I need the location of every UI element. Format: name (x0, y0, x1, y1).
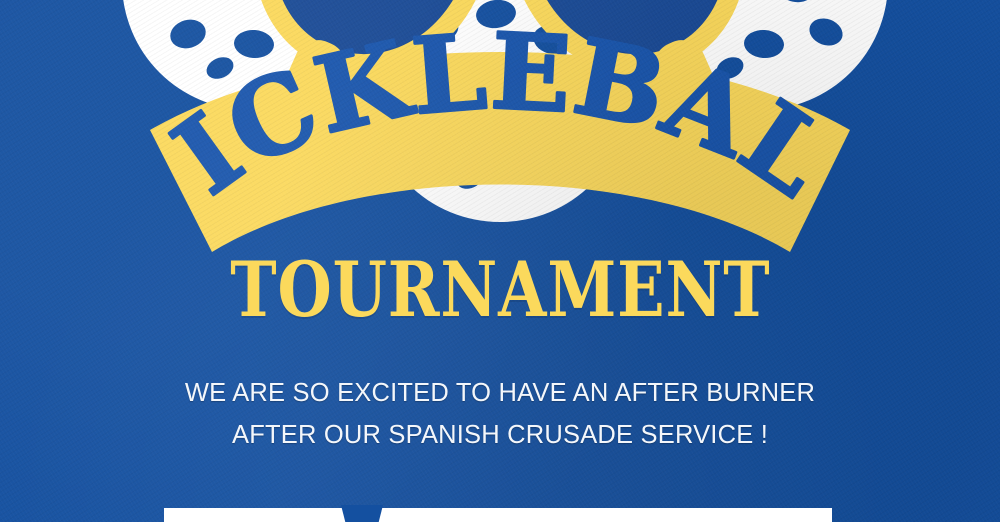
page-title: TOURNAMENT (0, 252, 1000, 328)
subtitle-line-2: AFTER OUR SPANISH CRUSADE SERVICE ! (0, 414, 1000, 456)
pickleball-tournament-poster: PICKLEBALL TOURNAMENT WE ARE SO EXCITED … (0, 0, 1000, 522)
subtitle: WE ARE SO EXCITED TO HAVE AN AFTER BURNE… (0, 372, 1000, 456)
bottom-card-notch (341, 505, 383, 522)
bottom-card (164, 508, 832, 522)
headline-text: TOURNAMENT (230, 252, 770, 328)
subtitle-line-1: WE ARE SO EXCITED TO HAVE AN AFTER BURNE… (0, 372, 1000, 414)
